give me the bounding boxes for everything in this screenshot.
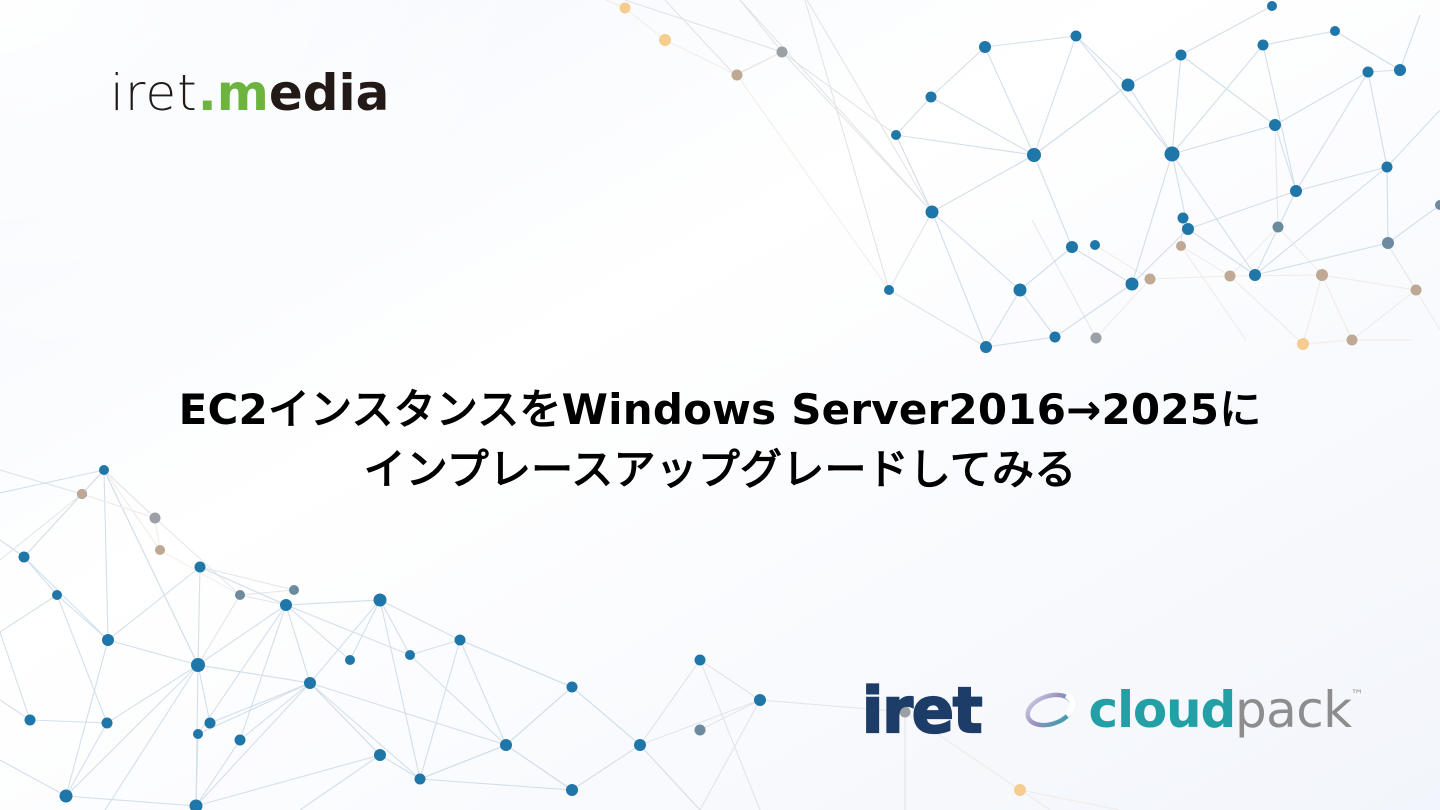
page-title-line-1: EC2インスタンスをWindows Server2016→2025に	[0, 380, 1440, 440]
iret-logo: iret	[862, 680, 982, 742]
wordmark-edia: edia	[269, 68, 390, 118]
cloudpack-wordmark: cloudpack™	[1089, 685, 1365, 735]
cloudpack-pack-text: pack	[1235, 685, 1351, 735]
wordmark-dot: .	[198, 68, 217, 118]
footer-logo-group: iret cloudpack™	[862, 666, 1364, 750]
cloudpack-swirl-icon	[1024, 687, 1082, 733]
page-title: EC2インスタンスをWindows Server2016→2025に インプレー…	[0, 380, 1440, 499]
iret-media-wordmark: iret.media	[110, 68, 389, 130]
network-nodes-top-right	[620, 1, 1440, 353]
wordmark-m: m	[217, 68, 269, 118]
wordmark-iret: iret	[110, 68, 198, 118]
cloudpack-logo: cloudpack™	[1024, 685, 1365, 735]
page-title-line-2: インプレースアップグレードしてみる	[0, 440, 1440, 500]
cloudpack-trademark: ™	[1350, 689, 1363, 702]
cloudpack-cloud-text: cloud	[1089, 685, 1236, 735]
slide-canvas: iret.media EC2インスタンスをWindows Server2016→…	[0, 0, 1440, 810]
network-nodes-bottom-left	[19, 465, 1027, 810]
